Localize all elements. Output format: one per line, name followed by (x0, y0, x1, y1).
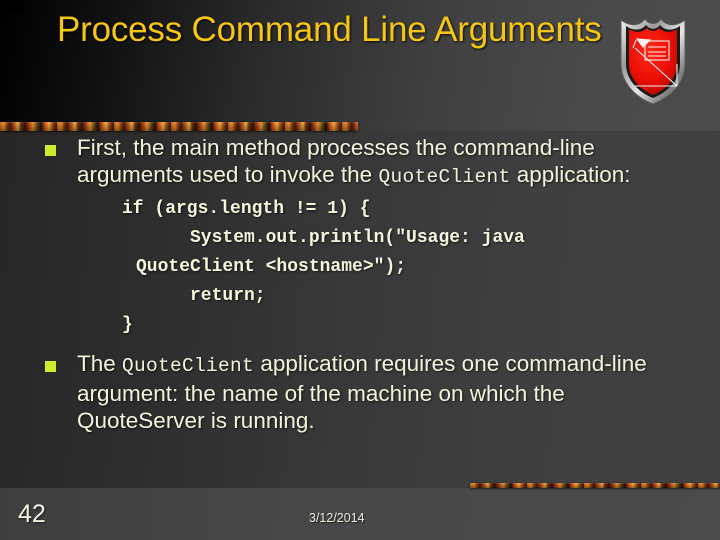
bullet-1-code-term: QuoteClient (378, 166, 510, 188)
slide: Process Command Line Arguments First, th… (0, 0, 720, 540)
code-line-5: } (122, 311, 690, 340)
slide-body: First, the main method processes the com… (0, 134, 720, 436)
bullet-1-text-after: application: (510, 162, 630, 187)
bullet-marker-icon (45, 145, 56, 156)
bullet-item-1-text: First, the main method processes the com… (77, 134, 696, 191)
slide-title: Process Command Line Arguments (57, 9, 602, 50)
code-line-2: System.out.println("Usage: java (122, 224, 690, 253)
code-line-3: QuoteClient <hostname>"); (122, 253, 690, 282)
bullet-item-2: The QuoteClient application requires one… (0, 350, 720, 434)
bullet-marker-icon (45, 361, 56, 372)
decorative-band-top (0, 122, 358, 131)
code-snippet: if (args.length != 1) {System.out.printl… (0, 195, 720, 340)
code-line-4: return; (122, 282, 690, 311)
slide-page-number: 42 (18, 500, 46, 529)
code-line-1: if (args.length != 1) { (122, 195, 690, 224)
bullet-2-text-before: The (77, 351, 122, 376)
bullet-2-code-term: QuoteClient (122, 355, 254, 377)
slide-date: 3/12/2014 (309, 511, 365, 525)
bullet-item-2-text: The QuoteClient application requires one… (77, 350, 696, 434)
decorative-band-bottom (470, 483, 720, 488)
red-shield-badge-icon (617, 14, 689, 106)
corner-accent-block (0, 0, 24, 13)
bullet-item-1: First, the main method processes the com… (0, 134, 720, 191)
